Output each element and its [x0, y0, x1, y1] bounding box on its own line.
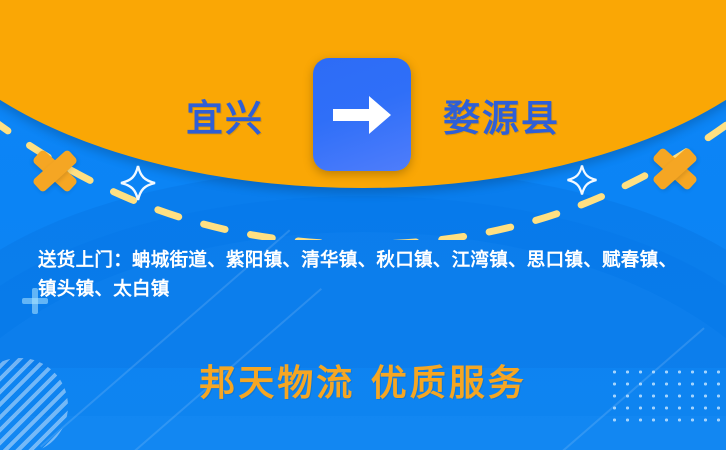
- delivery-line-1: 送货上门：蚺城街道、紫阳镇、清华镇、秋口镇、江湾镇、思口镇、赋春镇、: [38, 246, 710, 275]
- delivery-line-2: 镇头镇、太白镇: [38, 275, 710, 304]
- destination-city-label: 婺源县: [443, 96, 560, 140]
- route-arrow-card: [313, 58, 411, 171]
- arrow-right-icon: [331, 92, 393, 138]
- company-slogan: 邦天物流 优质服务: [0, 360, 726, 406]
- origin-city-label: 宜兴: [186, 96, 264, 140]
- logistics-route-banner: 宜兴 婺源县 送货上门：蚺城街道、紫阳镇、清华镇、秋口镇、江湾镇、思口镇、赋春镇…: [0, 0, 726, 450]
- delivery-coverage-text: 送货上门：蚺城街道、紫阳镇、清华镇、秋口镇、江湾镇、思口镇、赋春镇、 镇头镇、太…: [38, 246, 710, 304]
